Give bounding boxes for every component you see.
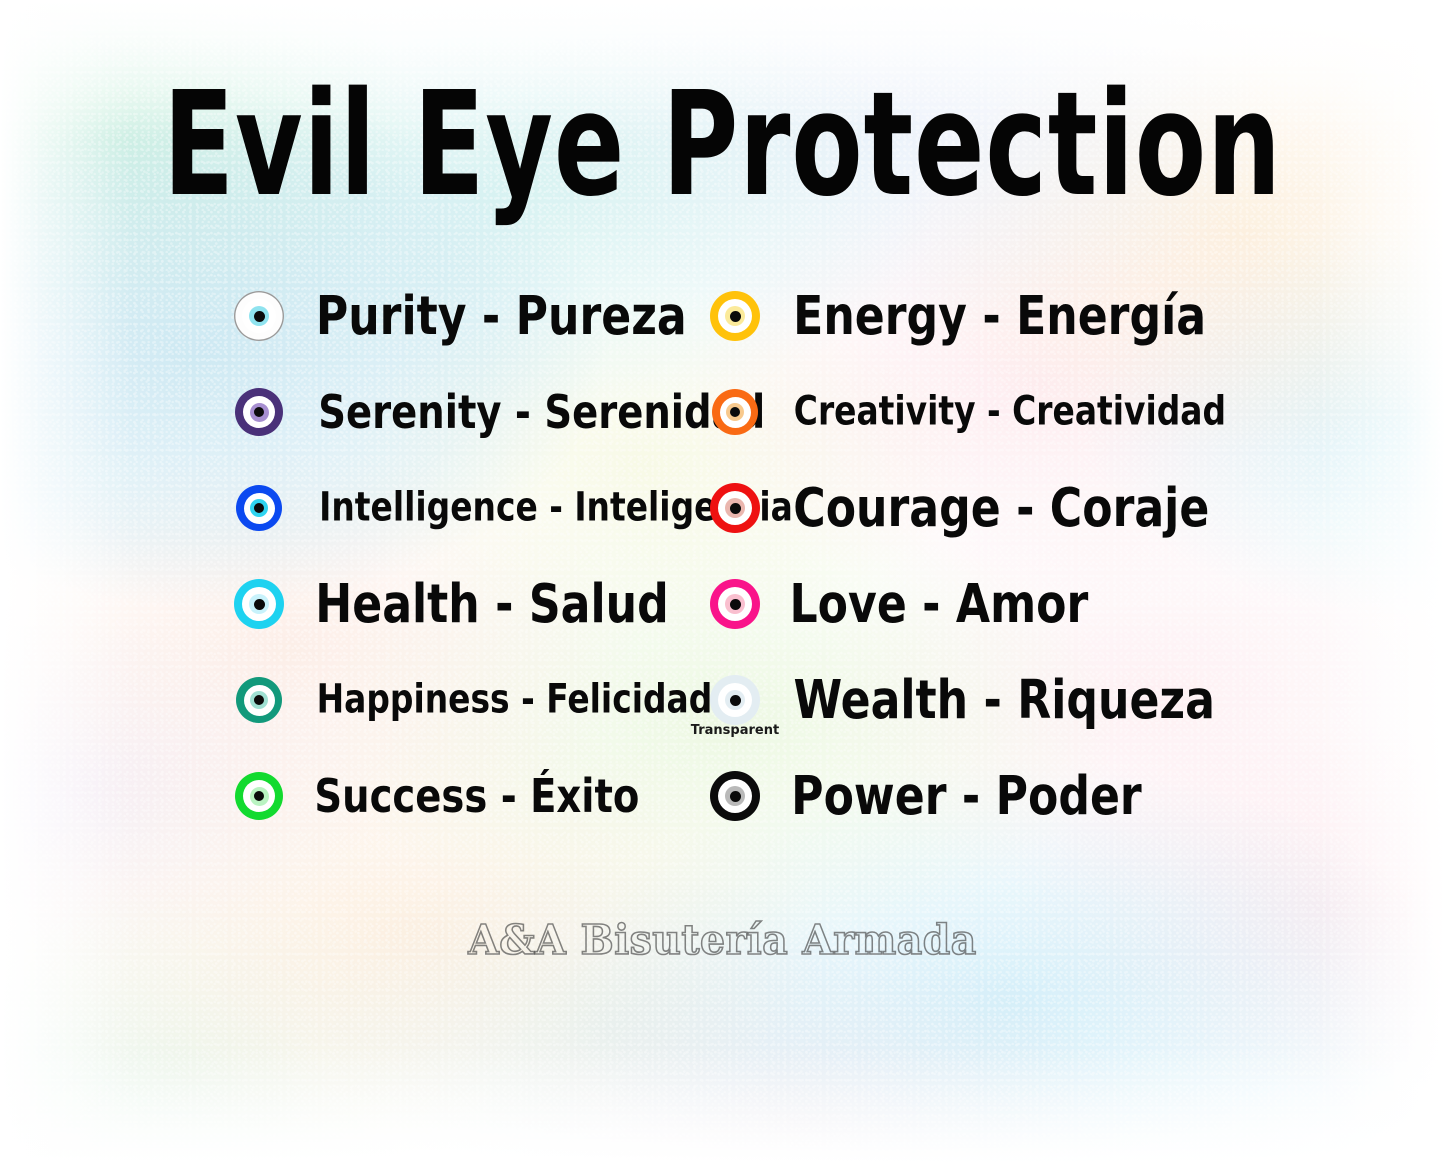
list-item[interactable]: Purity - Pureza: [228, 268, 704, 364]
eye-meaning-label: Wealth - Riqueza: [793, 673, 1214, 727]
eye-meaning-label: Courage - Coraje: [793, 481, 1209, 535]
eye-meaning-label: Creativity - Creatividad: [794, 392, 1226, 432]
brand-signature: A&A Bisutería Armada: [29, 916, 1416, 964]
bead-wrapper: [228, 772, 290, 820]
eye-meaning-label: Success - Éxito: [314, 773, 639, 820]
bead-white-ring: [718, 491, 752, 525]
poster-canvas: Evil Eye Protection Purity - PurezaEnerg…: [0, 0, 1445, 1164]
page-title: Evil Eye Protection: [87, 72, 1359, 216]
bead-iris: [250, 403, 269, 422]
eye-meaning-label: Power - Poder: [791, 769, 1142, 823]
evil-eye-bead-icon: [235, 388, 283, 436]
evil-eye-bead-icon: [710, 579, 760, 629]
evil-eye-bead-icon: [710, 771, 760, 821]
bead-wrapper: [228, 485, 290, 531]
bead-iris: [250, 787, 269, 806]
bead-wrapper: [228, 677, 290, 723]
bead-wrapper: [228, 291, 290, 341]
bead-wrapper: [228, 388, 290, 436]
evil-eye-meaning-list: Purity - PurezaEnergy - EnergíaSerenity …: [228, 268, 1218, 844]
evil-eye-bead-icon: [710, 291, 760, 341]
list-item[interactable]: Courage - Coraje: [704, 460, 1218, 556]
list-item[interactable]: Health - Salud: [228, 556, 704, 652]
evil-eye-bead-icon: [234, 291, 284, 341]
evil-eye-bead-icon: [710, 675, 760, 725]
bead-wrapper: [228, 579, 290, 629]
eye-meaning-label: Happiness - Felicidad: [317, 680, 713, 720]
bead-iris: [249, 594, 269, 614]
evil-eye-bead-icon: [235, 772, 283, 820]
bead-white-ring: [718, 299, 752, 333]
bead-wrapper: [704, 483, 766, 533]
eye-meaning-label: Energy - Energía: [793, 289, 1206, 343]
bead-pupil: [730, 407, 740, 417]
list-item[interactable]: Success - Éxito: [228, 748, 704, 844]
bead-iris: [726, 403, 744, 421]
bead-white-ring: [720, 397, 751, 428]
bead-white-ring: [244, 493, 275, 524]
poster-content: Evil Eye Protection Purity - PurezaEnerg…: [0, 0, 1445, 1164]
bead-white-ring: [718, 683, 752, 717]
bead-white-ring: [242, 299, 276, 333]
list-item[interactable]: Happiness - Felicidad: [228, 652, 704, 748]
bead-wrapper: [704, 291, 766, 341]
bead-wrapper: [704, 389, 766, 435]
evil-eye-bead-icon: [236, 485, 282, 531]
list-item[interactable]: Energy - Energía: [704, 268, 1218, 364]
bead-pupil: [730, 311, 741, 322]
eye-meaning-label: Love - Amor: [790, 577, 1089, 631]
evil-eye-bead-icon: [710, 483, 760, 533]
evil-eye-bead-icon: [234, 579, 284, 629]
bead-pupil: [254, 599, 265, 610]
eye-meaning-label: Serenity - Serenidad: [318, 389, 765, 436]
list-item[interactable]: Power - Poder: [704, 748, 1218, 844]
eye-meaning-label: Health - Salud: [315, 577, 668, 631]
bead-pupil: [730, 695, 741, 706]
list-item[interactable]: Love - Amor: [704, 556, 1218, 652]
list-item[interactable]: Creativity - Creatividad: [704, 364, 1218, 460]
bead-iris: [249, 306, 269, 326]
list-item[interactable]: Serenity - Serenidad: [228, 364, 704, 460]
evil-eye-bead-icon: [712, 389, 758, 435]
bead-iris: [725, 690, 745, 710]
bead-white-ring: [243, 396, 275, 428]
bead-pupil: [254, 695, 264, 705]
bead-iris: [250, 499, 268, 517]
bead-pupil: [730, 791, 741, 802]
bead-white-ring: [242, 587, 276, 621]
bead-wrapper: [704, 771, 766, 821]
bead-white-ring: [718, 587, 752, 621]
bead-iris: [725, 306, 745, 326]
evil-eye-bead-icon: [236, 677, 282, 723]
bead-iris: [725, 594, 745, 614]
bead-pupil: [730, 503, 741, 514]
bead-iris: [725, 786, 745, 806]
bead-wrapper: Transparent: [704, 675, 766, 725]
bead-iris: [250, 691, 268, 709]
bead-pupil: [254, 503, 264, 513]
bead-white-ring: [244, 685, 275, 716]
list-item[interactable]: Intelligence - Inteligencia: [228, 460, 704, 556]
bead-wrapper: [704, 579, 766, 629]
list-item[interactable]: TransparentWealth - Riqueza: [704, 652, 1218, 748]
bead-pupil: [730, 599, 741, 610]
eye-meaning-label: Purity - Pureza: [316, 289, 687, 343]
bead-note-label: Transparent: [691, 723, 779, 738]
bead-white-ring: [243, 780, 275, 812]
bead-pupil: [254, 311, 265, 322]
bead-pupil: [254, 407, 264, 417]
bead-white-ring: [718, 779, 752, 813]
bead-iris: [725, 498, 745, 518]
bead-pupil: [254, 791, 264, 801]
